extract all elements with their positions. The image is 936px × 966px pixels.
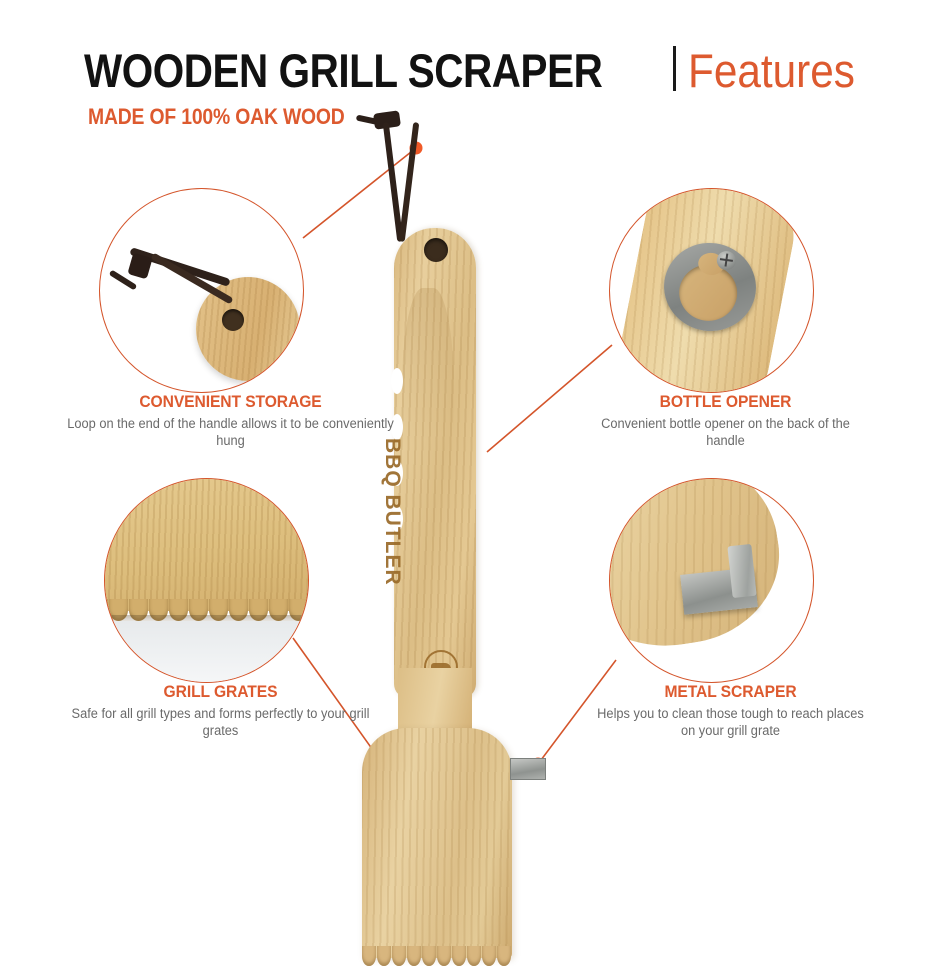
feature-description: Helps you to clean those tough to reach …	[595, 705, 866, 739]
tagline: MADE OF 100% OAK WOOD	[88, 104, 345, 130]
cord-knot-icon	[127, 253, 152, 280]
product-illustration: BBQ BUTLER	[352, 108, 582, 868]
scraper-blade	[362, 728, 512, 958]
feature-label-metal-scraper: METAL SCRAPER Helps you to clean those t…	[588, 682, 873, 739]
blade-wood-icon	[104, 478, 309, 611]
feature-description: Convenient bottle opener on the back of …	[595, 415, 856, 449]
feature-title: METAL SCRAPER	[599, 682, 861, 702]
brand-engraving: BBQ BUTLER	[380, 438, 404, 618]
title-main-text: WOODEN GRILL SCRAPER	[84, 43, 602, 98]
feature-label-convenient-storage: CONVENIENT STORAGE Loop on the end of th…	[58, 392, 403, 449]
blade-wood-icon	[609, 478, 792, 661]
feature-description: Safe for all grill types and forms perfe…	[57, 705, 385, 739]
callout-metal-scraper[interactable]	[609, 478, 814, 683]
callout-grill-grates[interactable]	[104, 478, 309, 683]
scraper-handle	[394, 228, 476, 698]
title-accent-text: Features	[688, 43, 855, 98]
grate-surface	[105, 621, 309, 683]
title-divider	[673, 46, 676, 91]
handle-hole-icon	[222, 309, 244, 331]
opener-cutout-icon	[676, 261, 741, 325]
callout-bottle-opener[interactable]	[609, 188, 814, 393]
hanging-hole-icon	[424, 238, 448, 262]
cord-strand-icon	[399, 122, 420, 242]
feature-description: Loop on the end of the handle allows it …	[67, 415, 395, 449]
callout-convenient-storage[interactable]	[99, 188, 304, 393]
metal-scraper-tab-icon	[510, 758, 546, 780]
feature-label-grill-grates: GRILL GRATES Safe for all grill types an…	[48, 682, 393, 739]
feature-title: CONVENIENT STORAGE	[72, 392, 389, 412]
infographic-canvas: WOODEN GRILL SCRAPER Features MADE OF 10…	[0, 0, 936, 906]
feature-title: GRILL GRATES	[62, 682, 379, 702]
blade-serrated-teeth	[362, 946, 512, 966]
feature-title: BOTTLE OPENER	[599, 392, 852, 412]
feature-label-bottle-opener: BOTTLE OPENER Convenient bottle opener o…	[588, 392, 863, 449]
page-title: WOODEN GRILL SCRAPER Features	[84, 42, 884, 98]
